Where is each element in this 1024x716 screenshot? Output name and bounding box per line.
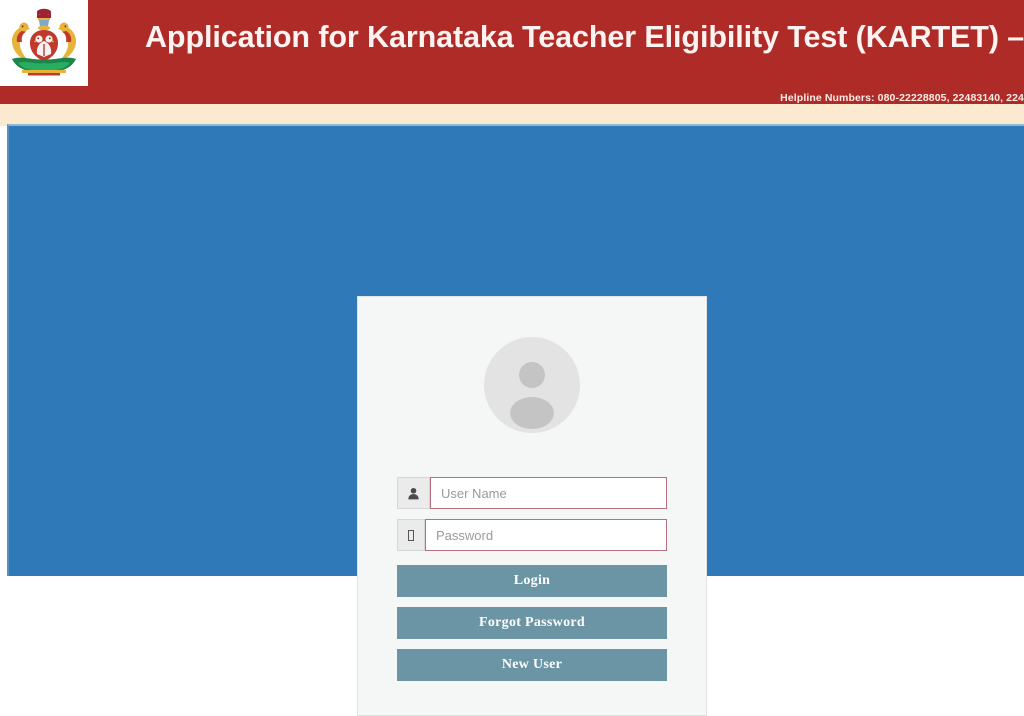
forgot-password-button[interactable]: Forgot Password — [397, 607, 667, 639]
accent-band — [0, 104, 1024, 126]
new-user-button[interactable]: New User — [397, 649, 667, 681]
username-input[interactable] — [430, 477, 667, 509]
user-avatar-placeholder-icon — [484, 337, 580, 433]
missing-glyph-box-icon — [397, 519, 425, 551]
page-header: Application for Karnataka Teacher Eligib… — [0, 0, 1024, 104]
password-field-row — [397, 519, 667, 551]
user-icon — [397, 477, 430, 509]
username-field-row — [397, 477, 667, 509]
password-input[interactable] — [425, 519, 667, 551]
karnataka-state-emblem-gandaberunda-icon — [0, 0, 88, 86]
login-card: Login Forgot Password New User — [357, 296, 707, 716]
login-button[interactable]: Login — [397, 565, 667, 597]
helpline-numbers: Helpline Numbers: 080-22228805, 22483140… — [780, 92, 1024, 104]
content-panel: Login Forgot Password New User — [7, 124, 1024, 576]
page-title: Application for Karnataka Teacher Eligib… — [145, 17, 1024, 57]
login-form: Login Forgot Password New User — [397, 477, 667, 681]
